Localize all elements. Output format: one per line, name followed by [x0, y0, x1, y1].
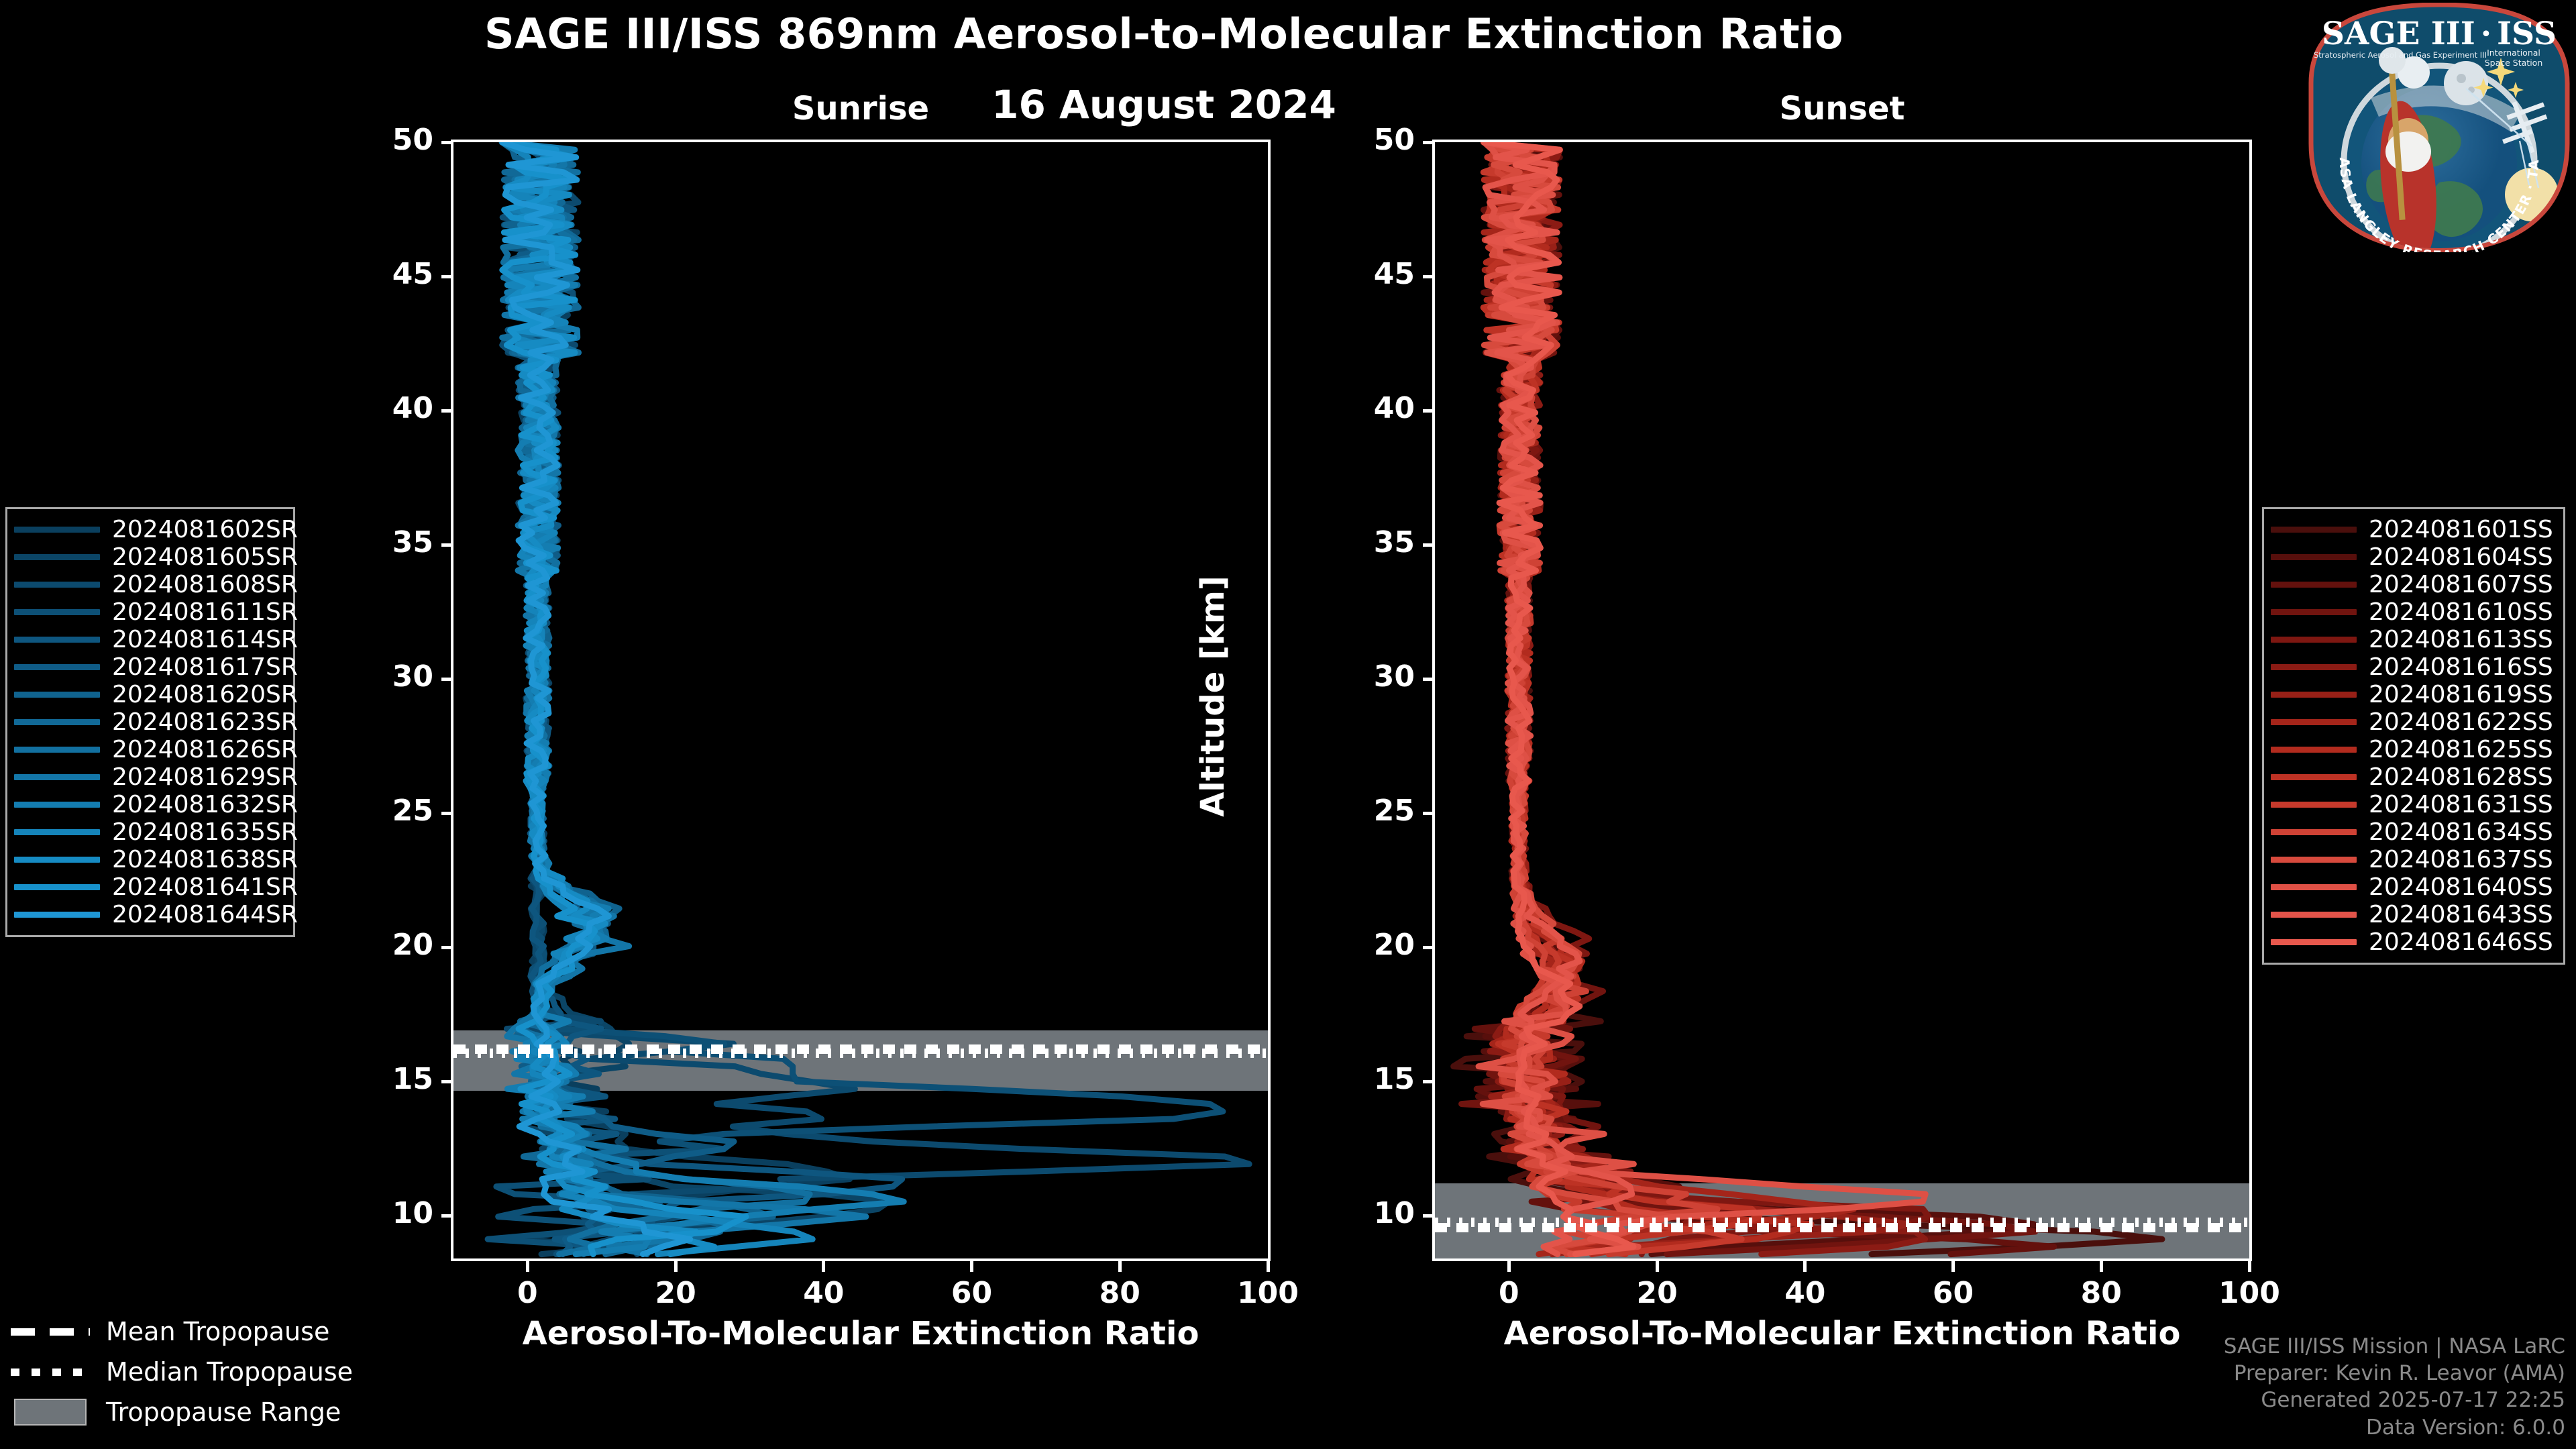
credits-line-mission: SAGE III/ISS Mission | NASA LaRC: [2224, 1333, 2565, 1360]
legend-label: 2024081605SR: [112, 543, 298, 571]
legend-color-swatch: [2271, 582, 2357, 588]
legend-color-swatch: [2271, 637, 2357, 643]
y-tick-mark: [441, 678, 453, 681]
legend-label: 2024081638SR: [112, 846, 298, 873]
y-tick-label: 20: [1334, 928, 1415, 962]
y-tick-label: 50: [1334, 123, 1415, 157]
figure-title: SAGE III/ISS 869nm Aerosol-to-Molecular …: [0, 9, 2328, 58]
x-tick-mark: [1118, 1258, 1122, 1272]
legend-item-2024081644SR[interactable]: 2024081644SR: [14, 901, 284, 928]
legend-label: 2024081614SR: [112, 626, 298, 653]
legend-label-tropopause-range: Tropopause Range: [106, 1397, 341, 1427]
y-tick-mark: [1423, 141, 1435, 144]
x-axis-label-sunset: Aerosol-To-Molecular Extinction Ratio: [1432, 1315, 2252, 1352]
y-tick-label: 40: [1334, 391, 1415, 425]
legend-item-2024081622SS[interactable]: 2024081622SS: [2271, 708, 2554, 736]
legend-item-2024081613SS[interactable]: 2024081613SS: [2271, 626, 2554, 653]
profile-plot-sunset: [1435, 142, 2249, 1258]
legend-label: 2024081622SS: [2369, 708, 2553, 736]
x-tick-mark: [1656, 1258, 1659, 1272]
legend-color-swatch: [2271, 802, 2357, 808]
legend-label: 2024081637SS: [2369, 846, 2553, 873]
x-tick-mark: [970, 1258, 973, 1272]
x-tick-label: 100: [1221, 1276, 1315, 1310]
y-tick-mark: [1423, 1080, 1435, 1083]
range-patch-icon: [8, 1392, 93, 1432]
legend-color-swatch: [2271, 857, 2357, 863]
y-tick-mark: [441, 543, 453, 547]
logo-title: SAGE III·ISS: [2322, 15, 2557, 52]
legend-item-2024081616SS[interactable]: 2024081616SS: [2271, 653, 2554, 681]
legend-label: 2024081626SR: [112, 736, 298, 763]
legend-label: 2024081617SR: [112, 653, 298, 681]
legend-color-swatch: [14, 912, 100, 918]
legend-label: 2024081643SS: [2369, 901, 2553, 928]
y-tick-label: 30: [353, 659, 433, 694]
y-tick-mark: [1423, 812, 1435, 815]
credits-line-generated: Generated 2025-07-17 22:25: [2224, 1387, 2565, 1413]
legend-color-swatch: [14, 774, 100, 780]
legend-label: 2024081628SS: [2369, 763, 2553, 791]
legend-item-2024081637SS[interactable]: 2024081637SS: [2271, 846, 2554, 873]
legend-item-2024081640SS[interactable]: 2024081640SS: [2271, 873, 2554, 901]
legend-item-2024081643SS[interactable]: 2024081643SS: [2271, 901, 2554, 928]
legend-item-2024081617SR[interactable]: 2024081617SR: [14, 653, 284, 681]
plot-area-sunrise: [451, 140, 1271, 1261]
x-tick-mark: [526, 1258, 529, 1272]
credits-line-version: Data Version: 6.0.0: [2224, 1414, 2565, 1441]
legend-color-swatch: [2271, 527, 2357, 533]
logo-subtitle-left: Stratospheric Aerosol and Gas Experiment…: [2314, 50, 2487, 60]
legend-label: 2024081644SR: [112, 901, 298, 928]
credits-block: SAGE III/ISS Mission | NASA LaRC Prepare…: [2224, 1333, 2565, 1441]
legend-label-mean-tropopause: Mean Tropopause: [106, 1317, 329, 1346]
legend-label: 2024081611SR: [112, 598, 298, 626]
plot-canvas-sunrise: [453, 142, 1268, 1258]
y-tick-mark: [441, 141, 453, 144]
legend-color-swatch: [2271, 609, 2357, 615]
x-tick-label: 0: [480, 1276, 574, 1310]
x-tick-mark: [2100, 1258, 2103, 1272]
x-tick-label: 80: [1073, 1276, 1167, 1310]
x-tick-mark: [674, 1258, 678, 1272]
x-tick-label: 20: [1610, 1276, 1704, 1310]
y-tick-mark: [441, 1080, 453, 1083]
figure-root: SAGE III/ISS 869nm Aerosol-to-Molecular …: [0, 0, 2576, 1449]
legend-color-swatch: [2271, 719, 2357, 725]
x-tick-label: 60: [1907, 1276, 2000, 1310]
legend-color-swatch: [2271, 774, 2357, 780]
y-tick-label: 30: [1334, 659, 1415, 694]
legend-item-2024081634SS[interactable]: 2024081634SS: [2271, 818, 2554, 846]
y-tick-mark: [441, 946, 453, 949]
x-tick-label: 20: [629, 1276, 722, 1310]
plot-area-sunset: [1432, 140, 2252, 1261]
legend-item-2024081604SS[interactable]: 2024081604SS: [2271, 543, 2554, 571]
legend-item-2024081605SR[interactable]: 2024081605SR: [14, 543, 284, 571]
legend-label: 2024081623SR: [112, 708, 298, 736]
y-tick-label: 45: [1334, 257, 1415, 291]
legend-label: 2024081619SS: [2369, 681, 2553, 708]
legend-tropopause: Mean Tropopause Median Tropopause Tropop…: [8, 1311, 437, 1432]
legend-item-2024081619SS[interactable]: 2024081619SS: [2271, 681, 2554, 708]
legend-label: 2024081620SR: [112, 681, 298, 708]
legend-item-2024081626SR[interactable]: 2024081626SR: [14, 736, 284, 763]
legend-color-swatch: [2271, 747, 2357, 753]
legend-sunrise-events[interactable]: 2024081602SR2024081605SR2024081608SR2024…: [5, 507, 295, 937]
legend-label: 2024081646SS: [2369, 928, 2553, 956]
x-tick-mark: [1803, 1258, 1807, 1272]
legend-color-swatch: [14, 857, 100, 863]
credits-line-preparer: Preparer: Kevin R. Leavor (AMA): [2224, 1360, 2565, 1387]
legend-color-swatch: [14, 802, 100, 808]
x-tick-mark: [1507, 1258, 1511, 1272]
legend-item-tropopause-range: Tropopause Range: [8, 1392, 437, 1432]
panel-title-sunrise: Sunrise: [451, 90, 1271, 127]
y-tick-mark: [1423, 409, 1435, 413]
x-tick-label: 0: [1462, 1276, 1556, 1310]
legend-color-swatch: [2271, 664, 2357, 670]
legend-label: 2024081634SS: [2369, 818, 2553, 846]
legend-label: 2024081631SS: [2369, 791, 2553, 818]
legend-color-swatch: [14, 554, 100, 560]
legend-item-2024081629SR[interactable]: 2024081629SR: [14, 763, 284, 791]
legend-color-swatch: [2271, 884, 2357, 890]
legend-label: 2024081602SR: [112, 516, 298, 543]
y-tick-label: 50: [353, 123, 433, 157]
x-tick-mark: [2248, 1258, 2251, 1272]
legend-label: 2024081610SS: [2369, 598, 2553, 626]
y-tick-mark: [441, 1214, 453, 1218]
legend-item-2024081623SR[interactable]: 2024081623SR: [14, 708, 284, 736]
legend-color-swatch: [14, 692, 100, 698]
legend-label-median-tropopause: Median Tropopause: [106, 1357, 353, 1387]
x-tick-mark: [1951, 1258, 1955, 1272]
legend-item-2024081614SR[interactable]: 2024081614SR: [14, 626, 284, 653]
y-tick-label: 10: [353, 1196, 433, 1230]
y-tick-mark: [441, 409, 453, 413]
legend-color-swatch: [2271, 554, 2357, 560]
legend-label: 2024081635SR: [112, 818, 298, 846]
y-tick-mark: [1423, 543, 1435, 547]
y-tick-mark: [1423, 1214, 1435, 1218]
x-tick-mark: [1267, 1258, 1270, 1272]
y-tick-label: 25: [353, 794, 433, 828]
legend-item-2024081601SS[interactable]: 2024081601SS: [2271, 516, 2554, 543]
logo-subtitle-right-2: Space Station: [2485, 58, 2543, 68]
legend-label: 2024081613SS: [2369, 626, 2553, 653]
legend-item-2024081602SR[interactable]: 2024081602SR: [14, 516, 284, 543]
y-tick-mark: [1423, 275, 1435, 278]
legend-color-swatch: [14, 829, 100, 835]
y-tick-mark: [1423, 946, 1435, 949]
legend-label: 2024081641SR: [112, 873, 298, 901]
legend-item-median-tropopause: Median Tropopause: [8, 1352, 437, 1392]
y-tick-mark: [441, 275, 453, 278]
panel-title-sunset: Sunset: [1432, 90, 2252, 127]
legend-color-swatch: [2271, 912, 2357, 918]
y-tick-label: 35: [353, 525, 433, 559]
dashed-line-icon: [8, 1311, 93, 1352]
y-tick-label: 10: [1334, 1196, 1415, 1230]
legend-color-swatch: [14, 719, 100, 725]
legend-item-2024081638SR[interactable]: 2024081638SR: [14, 846, 284, 873]
y-tick-mark: [441, 812, 453, 815]
y-tick-label: 20: [353, 928, 433, 962]
y-tick-label: 25: [1334, 794, 1415, 828]
legend-label: 2024081625SS: [2369, 736, 2553, 763]
dotted-line-icon: [8, 1352, 93, 1392]
x-tick-mark: [822, 1258, 825, 1272]
legend-item-mean-tropopause: Mean Tropopause: [8, 1311, 437, 1352]
legend-color-swatch: [2271, 939, 2357, 945]
y-axis-label-sunset: Altitude [km]: [1194, 562, 1232, 830]
logo-subtitle-right-1: International: [2487, 48, 2540, 58]
legend-sunset-events[interactable]: 2024081601SS2024081604SS2024081607SS2024…: [2262, 507, 2565, 965]
y-tick-label: 15: [353, 1062, 433, 1096]
x-tick-label: 40: [1758, 1276, 1852, 1310]
y-tick-label: 35: [1334, 525, 1415, 559]
legend-label: 2024081616SS: [2369, 653, 2553, 681]
legend-item-2024081632SR[interactable]: 2024081632SR: [14, 791, 284, 818]
plot-canvas-sunset: [1435, 142, 2249, 1258]
x-tick-label: 100: [2202, 1276, 2296, 1310]
legend-color-swatch: [2271, 692, 2357, 698]
legend-item-2024081628SS[interactable]: 2024081628SS: [2271, 763, 2554, 791]
legend-color-swatch: [14, 527, 100, 533]
legend-item-2024081635SR[interactable]: 2024081635SR: [14, 818, 284, 846]
legend-label: 2024081608SR: [112, 571, 298, 598]
legend-item-2024081608SR[interactable]: 2024081608SR: [14, 571, 284, 598]
legend-item-2024081607SS[interactable]: 2024081607SS: [2271, 571, 2554, 598]
legend-label: 2024081632SR: [112, 791, 298, 818]
x-tick-label: 80: [2054, 1276, 2148, 1310]
legend-item-2024081620SR[interactable]: 2024081620SR: [14, 681, 284, 708]
legend-label: 2024081640SS: [2369, 873, 2553, 901]
legend-item-2024081641SR[interactable]: 2024081641SR: [14, 873, 284, 901]
x-tick-label: 60: [925, 1276, 1019, 1310]
legend-color-swatch: [14, 884, 100, 890]
legend-color-swatch: [14, 582, 100, 588]
y-tick-label: 15: [1334, 1062, 1415, 1096]
legend-item-2024081610SS[interactable]: 2024081610SS: [2271, 598, 2554, 626]
legend-color-swatch: [14, 609, 100, 615]
y-tick-label: 40: [353, 391, 433, 425]
x-tick-label: 40: [777, 1276, 871, 1310]
legend-item-2024081631SS[interactable]: 2024081631SS: [2271, 791, 2554, 818]
legend-color-swatch: [14, 637, 100, 643]
legend-color-swatch: [14, 664, 100, 670]
legend-item-2024081611SR[interactable]: 2024081611SR: [14, 598, 284, 626]
y-tick-mark: [1423, 678, 1435, 681]
profile-plot-sunrise: [453, 142, 1268, 1258]
x-axis-label-sunrise: Aerosol-To-Molecular Extinction Ratio: [451, 1315, 1271, 1352]
y-tick-label: 45: [353, 257, 433, 291]
legend-item-2024081646SS[interactable]: 2024081646SS: [2271, 928, 2554, 956]
legend-item-2024081625SS[interactable]: 2024081625SS: [2271, 736, 2554, 763]
sage-iii-iss-mission-patch-logo: SAGE III·ISS Stratospheric Aerosol and G…: [2308, 3, 2571, 252]
legend-label: 2024081604SS: [2369, 543, 2553, 571]
legend-label: 2024081601SS: [2369, 516, 2553, 543]
legend-label: 2024081629SR: [112, 763, 298, 791]
legend-color-swatch: [14, 747, 100, 753]
legend-label: 2024081607SS: [2369, 571, 2553, 598]
legend-color-swatch: [2271, 829, 2357, 835]
